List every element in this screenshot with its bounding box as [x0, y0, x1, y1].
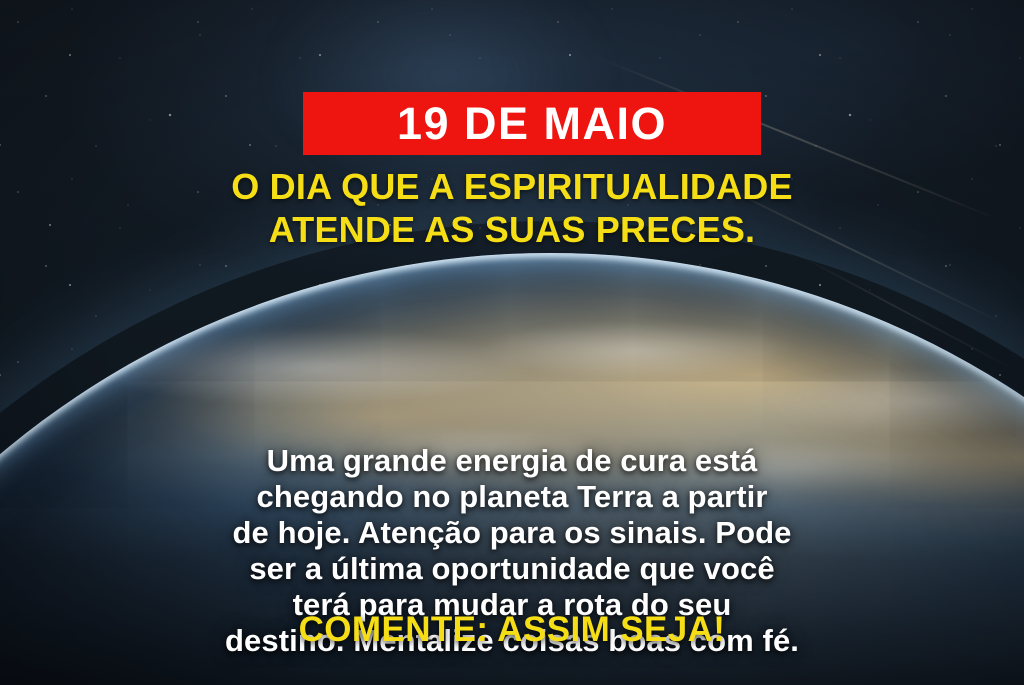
body-line-4: ser a última oportunidade que você: [55, 551, 969, 587]
body-line-1: Uma grande energia de cura está: [55, 443, 969, 479]
body-line-3: de hoje. Atenção para os sinais. Pode: [55, 515, 969, 551]
headline-line-2: ATENDE AS SUAS PRECES.: [40, 209, 984, 252]
headline: O DIA QUE A ESPIRITUALIDADE ATENDE AS SU…: [0, 166, 1024, 252]
body-line-2: chegando no planeta Terra a partir: [55, 479, 969, 515]
date-banner-text: 19 DE MAIO: [397, 101, 667, 146]
poster-content: 19 DE MAIO O DIA QUE A ESPIRITUALIDADE A…: [0, 0, 1024, 685]
headline-line-1: O DIA QUE A ESPIRITUALIDADE: [40, 166, 984, 209]
call-to-action-text: COMENTE: ASSIM SEJA!: [0, 612, 1024, 647]
date-banner: 19 DE MAIO: [303, 92, 761, 155]
poster-image: 19 DE MAIO O DIA QUE A ESPIRITUALIDADE A…: [0, 0, 1024, 685]
